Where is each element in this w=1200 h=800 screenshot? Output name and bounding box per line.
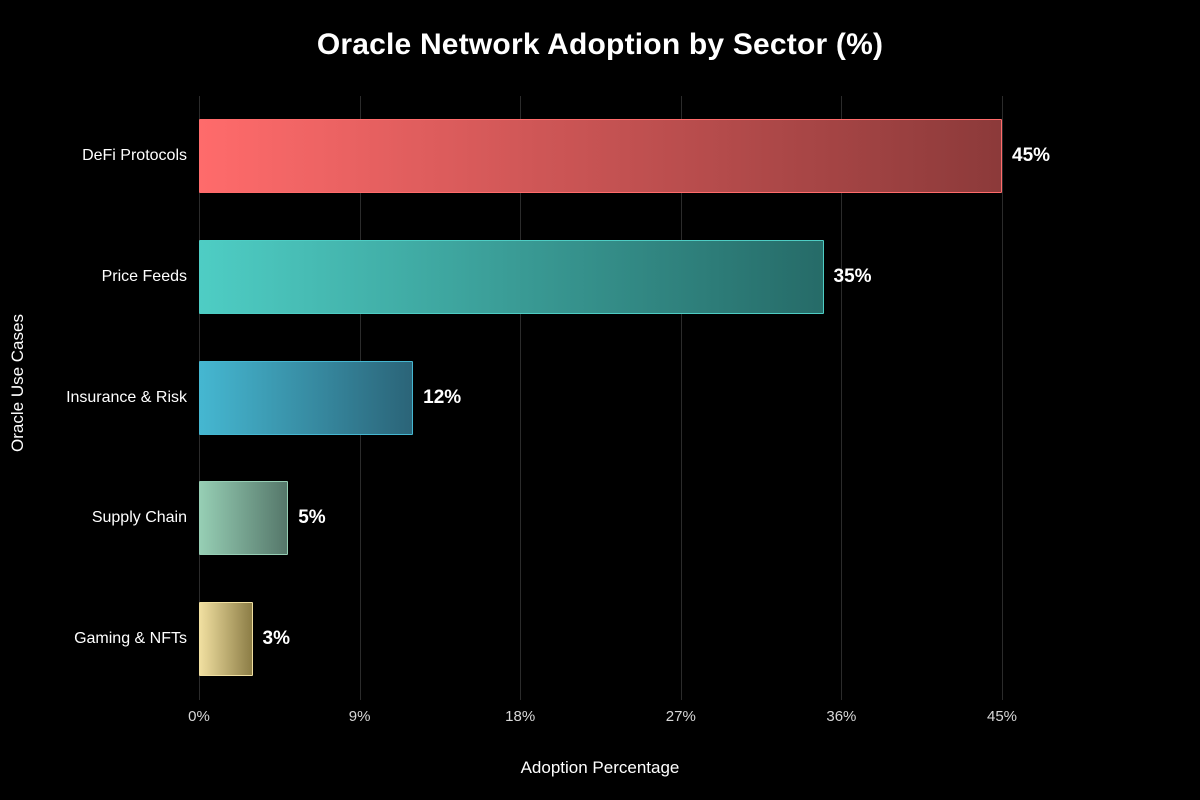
y-axis-title: Oracle Use Cases [8, 213, 28, 553]
x-tick-18: 18% [505, 708, 535, 725]
chart-title: Oracle Network Adoption by Sector (%) [0, 28, 1200, 62]
plot-area: 45%35%12%5%3% [199, 96, 1002, 700]
bar-value-label: 12% [413, 361, 461, 435]
bar-row: 45% [199, 96, 1002, 216]
bar-row: 12% [199, 338, 1002, 458]
bar-defi-protocols[interactable] [199, 119, 1002, 193]
bar-value-label: 45% [1002, 119, 1050, 193]
bar-value-label: 5% [288, 481, 325, 555]
chart-canvas: Oracle Network Adoption by Sector (%) 45… [0, 0, 1200, 800]
x-tick-45: 45% [987, 708, 1017, 725]
bar-gaming-nfts[interactable] [199, 602, 253, 676]
y-tick-gaming-nfts: Gaming & NFTs [74, 602, 187, 676]
y-tick-insurance-risk: Insurance & Risk [66, 361, 187, 435]
x-tick-36: 36% [826, 708, 856, 725]
bar-price-feeds[interactable] [199, 240, 824, 314]
y-tick-defi-protocols: DeFi Protocols [82, 119, 187, 193]
y-tick-supply-chain: Supply Chain [92, 481, 187, 555]
y-tick-price-feeds: Price Feeds [102, 240, 187, 314]
bar-value-label: 35% [824, 240, 872, 314]
x-tick-27: 27% [666, 708, 696, 725]
bar-insurance-risk[interactable] [199, 361, 413, 435]
bar-row: 35% [199, 217, 1002, 337]
bar-row: 5% [199, 458, 1002, 578]
bar-supply-chain[interactable] [199, 481, 288, 555]
x-axis-title: Adoption Percentage [0, 758, 1200, 778]
x-tick-9: 9% [349, 708, 371, 725]
x-tick-0: 0% [188, 708, 210, 725]
bar-value-label: 3% [253, 602, 290, 676]
bar-row: 3% [199, 579, 1002, 699]
